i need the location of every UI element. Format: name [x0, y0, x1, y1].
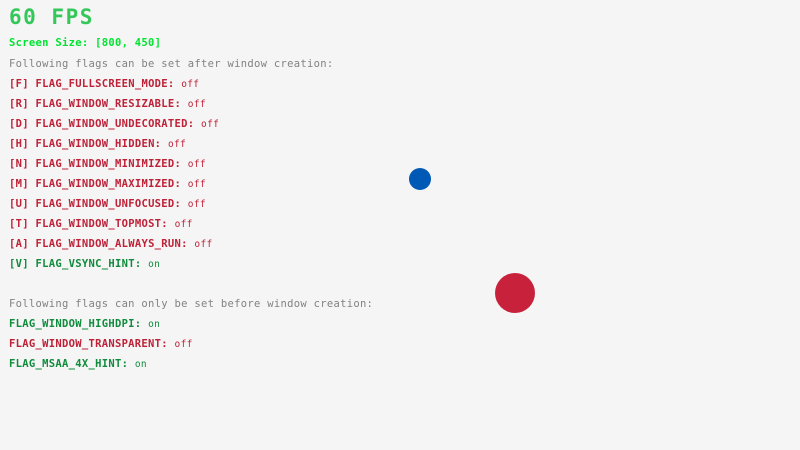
- flag-hotkey: [U]: [9, 198, 36, 210]
- flag-value: off: [188, 179, 206, 190]
- flag-value: off: [181, 79, 199, 90]
- section-header-after-creation: Following flags can be set after window …: [9, 59, 333, 70]
- flag-value: on: [148, 319, 160, 330]
- flag-hotkey: [F]: [9, 78, 36, 90]
- runtime-flag-flag-vsync-hint[interactable]: [V] FLAG_VSYNC_HINT: on: [9, 259, 160, 270]
- creation-flag-flag-window-highdpi[interactable]: FLAG_WINDOW_HIGHDPI: on: [9, 319, 160, 330]
- section-header-before-creation: Following flags can only be set before w…: [9, 299, 373, 310]
- flag-name: FLAG_WINDOW_UNFOCUSED:: [36, 198, 188, 210]
- runtime-flag-flag-fullscreen-mode[interactable]: [F] FLAG_FULLSCREEN_MODE: off: [9, 79, 199, 90]
- flag-name: FLAG_WINDOW_UNDECORATED:: [36, 118, 202, 130]
- flag-value: off: [175, 339, 193, 350]
- bouncing-ball-blue: [409, 168, 431, 190]
- flag-name: FLAG_WINDOW_ALWAYS_RUN:: [36, 238, 195, 250]
- flag-value: off: [194, 239, 212, 250]
- runtime-flag-flag-window-unfocused[interactable]: [U] FLAG_WINDOW_UNFOCUSED: off: [9, 199, 206, 210]
- runtime-flag-flag-window-always-run[interactable]: [A] FLAG_WINDOW_ALWAYS_RUN: off: [9, 239, 212, 250]
- runtime-flag-flag-window-topmost[interactable]: [T] FLAG_WINDOW_TOPMOST: off: [9, 219, 193, 230]
- flag-hotkey: [D]: [9, 118, 36, 130]
- flag-value: off: [168, 139, 186, 150]
- flag-hotkey: [N]: [9, 158, 36, 170]
- screen-size-label: Screen Size: [800, 450]: [9, 38, 161, 49]
- creation-flag-flag-window-transparent[interactable]: FLAG_WINDOW_TRANSPARENT: off: [9, 339, 193, 350]
- flag-name: FLAG_WINDOW_MAXIMIZED:: [36, 178, 188, 190]
- flag-name: FLAG_WINDOW_HIGHDPI:: [9, 318, 148, 330]
- flag-hotkey: [T]: [9, 218, 36, 230]
- creation-flag-flag-msaa-4x-hint[interactable]: FLAG_MSAA_4X_HINT: on: [9, 359, 147, 370]
- flag-hotkey: [A]: [9, 238, 36, 250]
- flag-hotkey: [M]: [9, 178, 36, 190]
- flag-value: off: [201, 119, 219, 130]
- bouncing-ball-red: [495, 273, 535, 313]
- fps-counter: 60 FPS: [9, 7, 94, 28]
- flag-value: on: [135, 359, 147, 370]
- flag-hotkey: [V]: [9, 258, 36, 270]
- flag-name: FLAG_VSYNC_HINT:: [36, 258, 149, 270]
- raylib-window-canvas[interactable]: 60 FPS Screen Size: [800, 450] Following…: [0, 0, 800, 450]
- flag-value: off: [188, 99, 206, 110]
- flag-value: off: [175, 219, 193, 230]
- runtime-flag-flag-window-minimized[interactable]: [N] FLAG_WINDOW_MINIMIZED: off: [9, 159, 206, 170]
- flag-hotkey: [H]: [9, 138, 36, 150]
- runtime-flag-flag-window-resizable[interactable]: [R] FLAG_WINDOW_RESIZABLE: off: [9, 99, 206, 110]
- flag-value: on: [148, 259, 160, 270]
- flag-name: FLAG_WINDOW_HIDDEN:: [36, 138, 168, 150]
- runtime-flag-flag-window-maximized[interactable]: [M] FLAG_WINDOW_MAXIMIZED: off: [9, 179, 206, 190]
- flag-name: FLAG_WINDOW_RESIZABLE:: [36, 98, 188, 110]
- flag-name: FLAG_WINDOW_TOPMOST:: [36, 218, 175, 230]
- flag-value: off: [188, 199, 206, 210]
- flag-name: FLAG_WINDOW_TRANSPARENT:: [9, 338, 175, 350]
- flag-hotkey: [R]: [9, 98, 36, 110]
- runtime-flag-flag-window-hidden[interactable]: [H] FLAG_WINDOW_HIDDEN: off: [9, 139, 186, 150]
- runtime-flag-flag-window-undecorated[interactable]: [D] FLAG_WINDOW_UNDECORATED: off: [9, 119, 219, 130]
- flag-name: FLAG_MSAA_4X_HINT:: [9, 358, 135, 370]
- flag-value: off: [188, 159, 206, 170]
- flag-name: FLAG_FULLSCREEN_MODE:: [36, 78, 182, 90]
- flag-name: FLAG_WINDOW_MINIMIZED:: [36, 158, 188, 170]
